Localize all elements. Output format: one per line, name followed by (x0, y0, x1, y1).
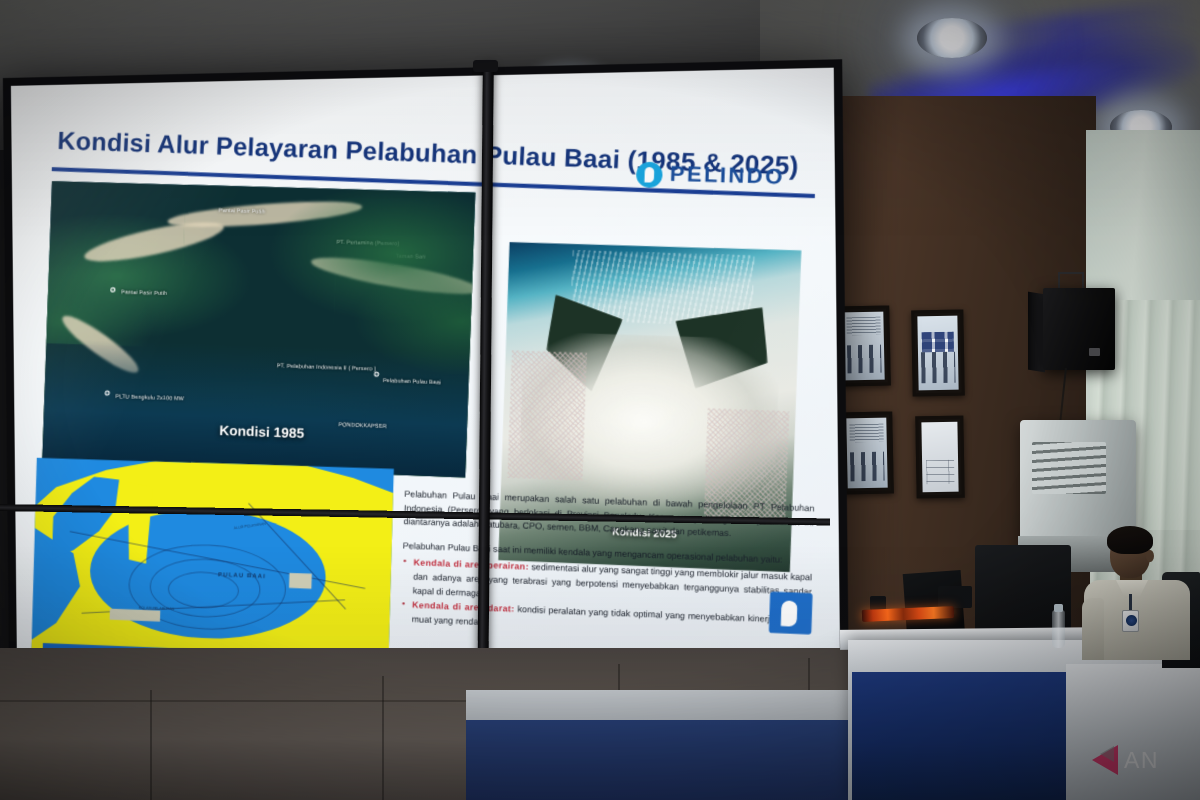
coastline (309, 250, 475, 301)
room-scene: Kondisi Alur Pelayaran Pelabuhan Pulau B… (0, 0, 1200, 800)
pelindo-corner-mark (769, 592, 813, 635)
ceiling-downlight (917, 18, 987, 58)
jetty (110, 609, 160, 621)
front-desk-left-skirt (466, 720, 866, 800)
watermark-text: AN (1124, 747, 1176, 774)
panel-seam (150, 690, 152, 800)
document-sheet (921, 422, 958, 493)
video-wall-display[interactable]: Kondisi Alur Pelayaran Pelabuhan Pulau B… (3, 59, 849, 683)
map-pin (111, 287, 116, 292)
poster-text-lines (847, 317, 881, 335)
map-label: Pantai Pasir Putih (219, 208, 266, 215)
coastline (82, 214, 227, 269)
poster-sheet (846, 418, 887, 489)
satellite-image-1985: PLTU Bengkulu 2x100 MW Pantai Pasir Puti… (42, 181, 475, 477)
desk-object (870, 596, 886, 610)
constraint-list: Kendala di area perairan: sedimentasi al… (400, 556, 812, 643)
id-badge (1122, 610, 1139, 632)
ac-vent-grille (1032, 442, 1106, 494)
poster-figure-row (850, 451, 885, 481)
wall-frame-bottom-left (840, 411, 894, 494)
image-caption-1985: Kondisi 1985 (219, 423, 304, 441)
map-label: Taman Sari (396, 253, 426, 260)
pelindo-circle-icon (636, 161, 663, 187)
antara-watermark: AN (1080, 734, 1200, 786)
poster-sheet (917, 316, 958, 391)
slide-body-text: Pelabuhan Pulau Baai merupakan salah sat… (400, 488, 814, 644)
pelindo-wordmark: PELINDO (669, 162, 785, 190)
panel-seam (382, 676, 384, 800)
coastline (168, 196, 364, 230)
speaker-badge (1089, 348, 1100, 356)
wall-frame-bottom-right (915, 416, 964, 499)
poster-grid (922, 332, 954, 352)
bullet-label-darat: Kendala di area darat: (412, 600, 515, 614)
person-hair (1107, 526, 1153, 554)
mullion-cap (473, 60, 498, 72)
jetty (289, 573, 311, 589)
poster-figure-row (847, 344, 882, 373)
map-label: PONDOKKAPSER (338, 422, 386, 430)
person-ear (1146, 550, 1154, 562)
poster-sheet (843, 312, 884, 381)
desk-object (938, 586, 972, 608)
document-table (926, 460, 954, 484)
map-label: PT. Pertamina (Persero) (336, 240, 399, 248)
presentation-slide: Kondisi Alur Pelayaran Pelabuhan Pulau B… (11, 68, 840, 675)
desk-blue-panel (852, 672, 1066, 800)
urban-area (507, 350, 587, 480)
deep-water (42, 338, 470, 477)
bottle-cap (1054, 604, 1063, 612)
bullet-label-perairan: Kendala di area perairan: (413, 557, 529, 572)
map-label: Pantai Pasir Putih (121, 290, 167, 297)
person-arm (1082, 598, 1104, 660)
poster-figure-row (921, 351, 956, 383)
bathymetry-chart-1985: PULAU BAAI ALUR PELAYARAN KOLAM PELABUHA… (31, 458, 394, 675)
wall-frame-top-right (911, 310, 964, 397)
poster-text-lines (850, 423, 884, 442)
antara-triangle-inner-icon (1100, 746, 1114, 762)
pelindo-logo: PELINDO (636, 156, 806, 195)
water-bottle (1052, 610, 1065, 648)
seated-attendee (1082, 524, 1192, 654)
wall-speaker (1043, 288, 1115, 370)
